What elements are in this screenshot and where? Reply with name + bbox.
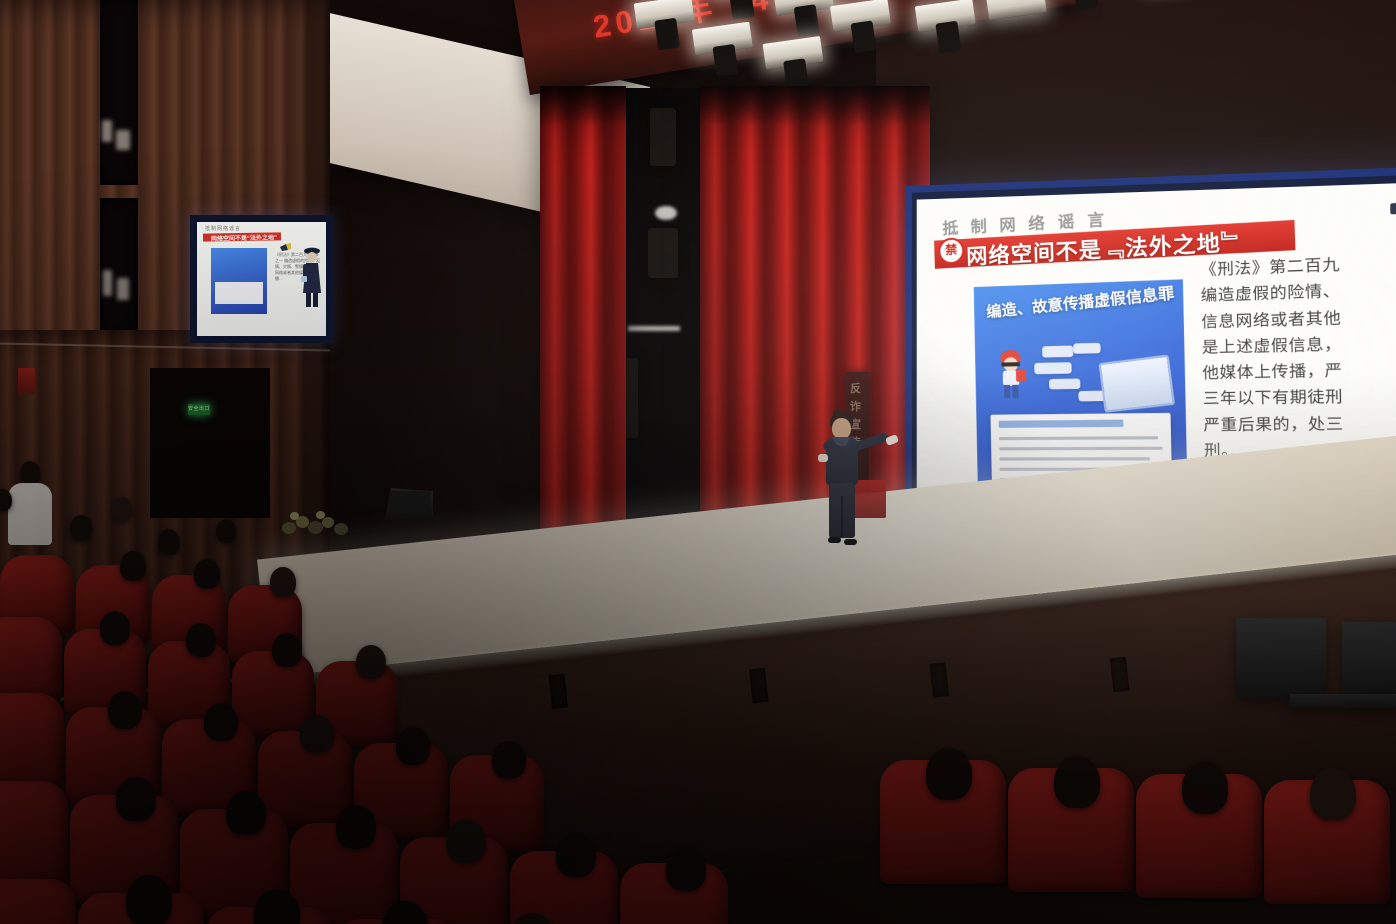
wall-window-lower bbox=[100, 198, 138, 338]
audience-member bbox=[226, 791, 266, 835]
audience-area-right bbox=[880, 700, 1396, 924]
exit-sign-label: 安全出口 bbox=[188, 404, 210, 415]
audience-member bbox=[100, 611, 130, 645]
side-monitor-kicker: 抵制网络谣言 bbox=[205, 225, 241, 232]
audience-member bbox=[356, 645, 386, 679]
audience-member bbox=[396, 727, 430, 765]
audience-member bbox=[926, 748, 972, 800]
audience-member bbox=[108, 691, 142, 729]
audience-member bbox=[204, 703, 238, 741]
side-monitor-officer-figure bbox=[301, 246, 323, 308]
audience-member bbox=[336, 805, 376, 849]
audience-member bbox=[126, 875, 172, 924]
audience-member bbox=[1054, 756, 1100, 808]
audience-member bbox=[20, 461, 40, 485]
side-monitor-megaphone-icon bbox=[279, 240, 291, 250]
audience-area bbox=[0, 455, 990, 924]
theater-seat bbox=[0, 693, 64, 789]
presenter-head bbox=[832, 418, 851, 439]
audience-member bbox=[556, 833, 596, 877]
floor-speaker-right bbox=[1342, 622, 1396, 700]
theater-seat bbox=[0, 617, 62, 703]
audience-member bbox=[112, 497, 132, 521]
exit-sign: 安全出口 bbox=[188, 404, 210, 415]
audience-member bbox=[1182, 762, 1228, 814]
audience-member bbox=[446, 819, 486, 863]
audience-member bbox=[270, 567, 296, 597]
audience-member bbox=[666, 847, 706, 891]
audience-member bbox=[216, 519, 236, 543]
audience-member bbox=[158, 529, 180, 555]
floor-speaker-left bbox=[1236, 618, 1326, 698]
fire-extinguisher-cabinet bbox=[18, 368, 35, 394]
audience-member-body bbox=[8, 483, 52, 545]
audience-member bbox=[120, 551, 146, 581]
audience-member bbox=[272, 633, 302, 667]
audience-member bbox=[1310, 768, 1356, 820]
audience-member bbox=[300, 715, 334, 753]
auditorium-photo: 安全出口 2026年 “4.15” 全民国 bbox=[0, 0, 1396, 924]
audience-member bbox=[70, 515, 92, 541]
side-monitor-headline: 网络空间不是“法外之地” bbox=[211, 232, 277, 242]
side-monitor: 抵制网络谣言 网络空间不是“法外之地” 《刑法》第二百九十一条之一 编造虚假的险… bbox=[190, 215, 333, 343]
audience-member bbox=[492, 741, 526, 779]
wall-window-upper bbox=[100, 0, 138, 185]
theater-seat bbox=[0, 879, 76, 924]
audience-member bbox=[116, 777, 156, 821]
side-monitor-slide: 抵制网络谣言 网络空间不是“法外之地” 《刑法》第二百九十一条之一 编造虚假的险… bbox=[197, 222, 326, 336]
audience-member bbox=[194, 559, 220, 589]
theater-seat bbox=[0, 781, 68, 889]
audience-member bbox=[186, 623, 216, 657]
side-monitor-infographic bbox=[211, 248, 267, 314]
